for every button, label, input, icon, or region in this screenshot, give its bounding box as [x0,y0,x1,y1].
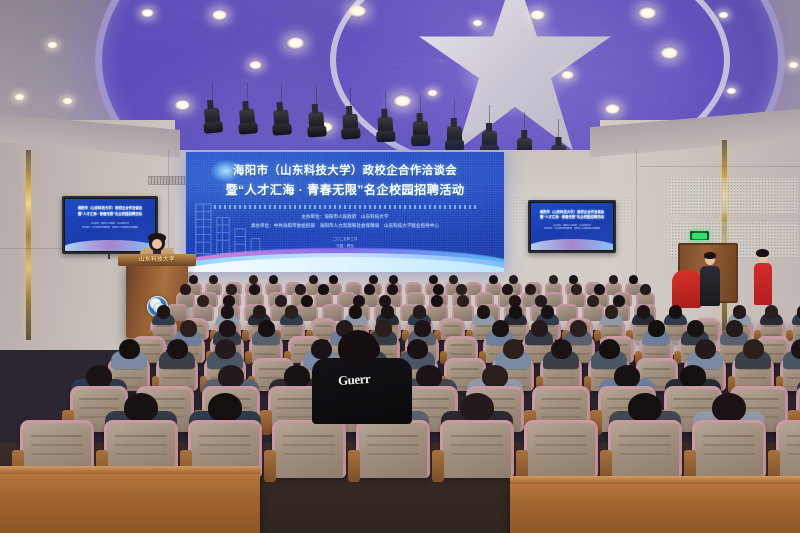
audience-head [387,284,398,295]
side-right-title-line2: 暨“人才汇海 · 青春无限”名企校园招聘活动 [531,215,613,221]
side-display-left-mount [108,254,110,259]
left-wall-light-strip [26,150,31,340]
seat-armrest [432,450,444,482]
audience-head [726,320,743,337]
side-left-coorganizer: 承办单位：中共海阳市委组织部 海阳市人力资源和社会保障局 [65,227,155,231]
banner-wave-graphic [186,238,504,272]
ceiling-downlight [141,8,155,17]
audience-head [594,284,605,295]
audience-head [680,365,707,388]
audience-head [712,393,746,422]
audience-head [489,275,499,284]
audience-head [531,320,548,337]
seat-armrest [245,351,252,365]
audience-head [226,284,237,295]
audience-head [284,365,311,388]
podium-front-text: 山东科技大学 [118,255,196,263]
side-right-title: 海阳市（山东科技大学）政校企合作洽谈会 暨“人才汇海 · 青春无限”名企校园招聘… [531,210,613,222]
audience-head [765,305,779,319]
audience-head [189,275,199,284]
audience-head [492,320,509,337]
audience-head [605,305,619,319]
audience-head [569,275,579,284]
audience-head [733,305,747,319]
audience-head [609,275,619,284]
audience-head [124,393,158,422]
audience-head [218,365,245,388]
audience-head [258,320,275,337]
audience-head [502,284,513,295]
audience-head [329,275,339,284]
side-display-left: 海阳市（山东科技大学）政校企合作洽谈会 暨“人才汇海 · 青春无限”名企校园招聘… [62,196,158,254]
audience-head [669,305,683,319]
audience-head [301,295,313,307]
audience-head [157,305,171,319]
seat-armrest [594,330,601,341]
audience-head [249,275,259,284]
ceiling-downlight [427,89,438,97]
audience-head [375,320,392,337]
ceiling-downlight [472,19,483,27]
banner-divider [214,205,476,209]
audience-head [457,295,469,307]
front-desk-left-edge [0,466,260,474]
covered-display-stand [672,270,702,308]
ceiling-downlight [393,95,412,108]
seat-armrest [264,450,276,482]
ceiling-downlight [726,87,737,95]
audience-head [416,365,443,388]
audience-head [167,339,188,359]
auditorium-seat[interactable] [272,420,346,478]
wall-seam-4 [640,166,800,167]
audience-head [509,275,519,284]
staff-man-body [700,266,720,306]
audience-head [629,275,639,284]
banner-coorganizer-line: 承办单位：中共海阳市委组织部 海阳市人力资源和社会保障局 山东科技大学就业指导中… [186,221,504,230]
ceiling-downlight [211,9,228,20]
auditorium-seat[interactable] [608,420,682,478]
banner-organizers: 主办单位：海阳市人民政府 山东科技大学 承办单位：中共海阳市委组织部 海阳市人力… [186,212,504,231]
auditorium-seat[interactable] [692,420,766,478]
audience-head [429,275,439,284]
audience-head [219,320,236,337]
front-desk-left [0,470,260,533]
ceiling-downlight [718,11,729,19]
audience-head [318,284,329,295]
audience-head [695,339,716,359]
audience-head [221,305,235,319]
audience-head [456,284,467,295]
audience-head [215,339,236,359]
audience-head [295,284,306,295]
audience-head [541,305,555,319]
auditorium-seat[interactable] [356,420,430,478]
audience-head [180,320,197,337]
audience-head [414,320,431,337]
audience-head [449,275,459,284]
stage-spotlight [239,108,256,133]
audience-head [637,305,651,319]
ceiling-downlight [174,99,191,110]
audience-head [549,275,559,284]
stage-spotlight [343,114,359,139]
banner-title-line1: 海阳市（山东科技大学）政校企合作洽谈会 [186,163,504,181]
staff-man-hair [704,252,716,259]
audience-head [180,284,191,295]
audience-head [119,339,140,359]
ceiling-downlight [14,93,25,101]
audience-head [349,305,363,319]
side-left-title-line2: 暨“人才汇海 · 青春无限”名企校园招聘活动 [65,212,155,218]
audience-head [381,305,395,319]
side-display-right-screen: 海阳市（山东科技大学）政校企合作洽谈会 暨“人才汇海 · 青春无限”名企校园招聘… [531,203,613,250]
audience-head [503,339,524,359]
audience-head [477,305,491,319]
audience-head [525,284,536,295]
ceiling-downlight [660,47,679,60]
audience-head [249,284,260,295]
main-led-screen: 海阳市（山东科技大学）政校企合作洽谈会 暨“人才汇海 · 青春无限”名企校园招聘… [186,152,504,272]
stage-spotlight [273,110,290,135]
audience-member-printed-jacket [312,358,412,424]
audience-head [197,295,209,307]
stage-spotlight [447,125,462,149]
ceiling-downlight [561,70,575,79]
right-acoustic-panel-upper [668,178,798,214]
audience-head [253,305,267,319]
audience-head [269,275,279,284]
ceiling-downlight [788,61,799,69]
audience-head [687,320,704,337]
stage-spotlight [308,111,325,136]
audience-head [413,305,427,319]
banner-title: 海阳市（山东科技大学）政校企合作洽谈会 暨“人才汇海 · 青春无限”名企校园招聘… [186,163,504,200]
audience-head [309,275,319,284]
audience-head [208,393,242,422]
audience-head [364,284,375,295]
ceiling-downlight [638,7,657,20]
exit-sign-glow [692,233,707,239]
audience-head [551,339,572,359]
ceiling-downlight [286,37,305,50]
side-display-left-screen: 海阳市（山东科技大学）政校企合作洽谈会 暨“人才汇海 · 青春无限”名企校园招聘… [65,199,155,251]
audience-head [482,365,509,388]
ceiling-downlight [348,5,367,18]
stage-spotlight [412,121,428,145]
stage-spotlight [378,117,394,142]
audience-head [369,275,379,284]
side-right-coorganizer: 承办单位：中共海阳市委组织部 海阳市人力资源和社会保障局 [531,228,613,232]
audience-head [587,295,599,307]
front-desk-right [510,480,800,533]
audience-head [209,275,219,284]
auditorium-photo-scene: 海阳市（山东科技大学）政校企合作洽谈会 暨“人才汇海 · 青春无限”名企校园招聘… [0,0,800,533]
side-left-orgs: 主办单位：海阳市人民政府 山东科技大学 承办单位：中共海阳市委组织部 海阳市人力… [65,223,155,231]
audience-head [570,320,587,337]
banner-title-line2: 暨“人才汇海 · 青春无限”名企校园招聘活动 [186,181,504,200]
side-right-orgs: 主办单位：海阳市人民政府 山东科技大学 承办单位：中共海阳市委组织部 海阳市人力… [531,225,613,233]
jacket-graphic-text: Guerr [337,371,370,389]
audience-head [628,393,662,422]
hostess-body [754,263,772,305]
audience-head [648,320,665,337]
auditorium-seat[interactable] [524,420,598,478]
audience-head [614,365,641,388]
speaker-face [152,239,162,249]
audience-head [640,284,651,295]
side-display-right: 海阳市（山东科技大学）政校企合作洽谈会 暨“人才汇海 · 青春无限”名企校园招聘… [528,200,616,253]
audience-head [311,339,332,359]
ceiling-downlight [604,103,621,114]
hostess-hair [756,249,769,257]
stage-spotlight [204,107,221,132]
front-desk-right-edge [510,476,800,484]
audience-head [599,339,620,359]
audience-head [407,339,428,359]
audience-head [275,295,287,307]
emergency-exit-icon [690,231,709,240]
ceiling-downlight [62,97,73,105]
seat-armrest [242,330,249,341]
audience-head [285,305,299,319]
audience-head [460,393,494,422]
ceiling-downlight [47,41,58,49]
audience-head [431,295,443,307]
audience-head [433,284,444,295]
audience-head [509,305,523,319]
led-screen-surface: 海阳市（山东科技大学）政校企合作洽谈会 暨“人才汇海 · 青春无限”名企校园招聘… [186,152,504,272]
audience-head [743,339,764,359]
side-left-title: 海阳市（山东科技大学）政校企合作洽谈会 暨“人才汇海 · 青春无限”名企校园招聘… [65,206,155,218]
side-right-wave [531,239,613,250]
ceiling-downlight [249,60,263,69]
banner-organizer-line: 主办单位：海阳市人民政府 山东科技大学 [186,212,504,221]
seat-armrest [348,450,360,482]
audience-head [389,275,399,284]
ceiling-downlight [529,9,546,20]
audience-head [86,365,113,388]
audience-head [338,330,378,366]
audience-head [571,284,582,295]
auditorium-seat[interactable] [440,420,514,478]
